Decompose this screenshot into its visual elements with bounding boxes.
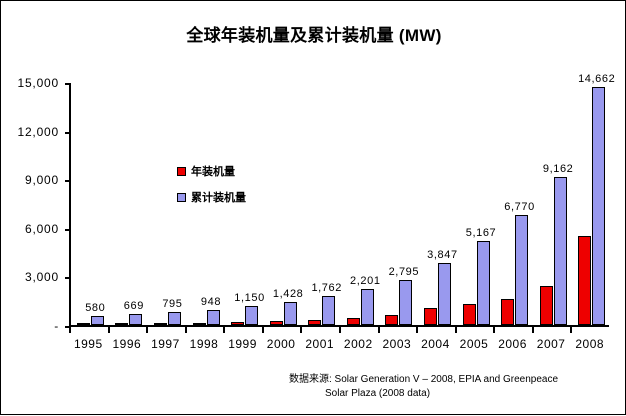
x-axis-tick	[185, 327, 187, 333]
bar-value-label: 9,162	[534, 163, 582, 175]
x-axis-tick	[300, 327, 302, 333]
bar-annual-1998[interactable]	[193, 323, 206, 325]
page-title: 全球年装机量及累计装机量 (MW)	[1, 21, 626, 46]
x-axis-tick-label: 1997	[145, 337, 185, 351]
bar-annual-2005[interactable]	[463, 304, 476, 325]
bar-cumulative-2004[interactable]	[438, 263, 451, 325]
x-axis-tick-label: 2007	[531, 337, 571, 351]
bar-annual-2008[interactable]	[578, 236, 591, 325]
bar-cumulative-2000[interactable]	[284, 302, 297, 325]
y-axis-tick-label: 15,000	[1, 76, 59, 90]
x-axis-tick	[223, 327, 225, 333]
y-axis-tick-label: 3,000	[1, 270, 59, 284]
legend-label-annual: 年装机量	[191, 163, 235, 179]
x-axis-tick	[262, 327, 264, 333]
bar-cumulative-1997[interactable]	[168, 312, 181, 325]
bar-cumulative-2006[interactable]	[515, 215, 528, 325]
bar-cumulative-1998[interactable]	[207, 310, 220, 325]
x-axis-tick	[493, 327, 495, 333]
bar-annual-2003[interactable]	[385, 315, 398, 325]
x-axis-tick-label: 2002	[338, 337, 378, 351]
x-axis-tick-label: 1998	[184, 337, 224, 351]
bar-cumulative-1996[interactable]	[129, 314, 142, 325]
bar-value-label: 2,795	[380, 266, 428, 278]
x-axis-tick-label: 2008	[570, 337, 610, 351]
x-axis-tick-label: 2004	[415, 337, 455, 351]
bar-value-label: 14,662	[573, 73, 621, 85]
y-axis-tick-label: 9,000	[1, 173, 59, 187]
chart-legend: 年装机量 累计装机量	[177, 164, 297, 216]
bar-cumulative-1995[interactable]	[91, 316, 104, 325]
bar-annual-1997[interactable]	[154, 323, 167, 325]
legend-swatch-annual-icon	[177, 167, 186, 176]
x-axis-tick-label: 1999	[223, 337, 263, 351]
x-axis-tick	[532, 327, 534, 333]
bar-annual-2006[interactable]	[501, 299, 514, 325]
y-axis-tick	[65, 83, 71, 85]
bar-cumulative-1999[interactable]	[245, 306, 258, 325]
x-axis-tick-label: 1996	[107, 337, 147, 351]
y-axis-tick	[65, 180, 71, 182]
x-axis-tick	[570, 327, 572, 333]
x-axis-tick	[378, 327, 380, 333]
bar-value-label: 3,847	[418, 249, 466, 261]
legend-item-annual[interactable]: 年装机量	[177, 164, 297, 178]
bar-annual-2007[interactable]	[540, 286, 553, 325]
source-note: 数据来源: Solar Generation V – 2008, EPIA an…	[289, 373, 558, 401]
x-axis-tick	[455, 327, 457, 333]
y-axis-tick	[65, 277, 71, 279]
bar-value-label: 6,770	[496, 201, 544, 213]
bar-cumulative-2007[interactable]	[554, 177, 567, 325]
bar-annual-2000[interactable]	[270, 321, 283, 326]
bar-cumulative-2005[interactable]	[477, 241, 490, 325]
x-axis-ticks	[69, 327, 609, 335]
x-axis-tick-label: 2006	[493, 337, 533, 351]
source-note-line-1: 数据来源: Solar Generation V – 2008, EPIA an…	[289, 373, 558, 387]
x-axis-tick	[108, 327, 110, 333]
source-note-line-2: Solar Plaza (2008 data)	[289, 387, 558, 401]
x-axis-labels: 1995199619971998199920002001200220032004…	[69, 337, 609, 357]
y-axis-tick-label: 6,000	[1, 222, 59, 236]
x-axis-tick-label: 2003	[377, 337, 417, 351]
bar-value-label: 5,167	[457, 227, 505, 239]
x-axis-tick	[146, 327, 148, 333]
chart-frame: 全球年装机量及累计装机量 (MW) -3,0006,0009,00012,000…	[0, 0, 626, 415]
legend-swatch-cumulative-icon	[177, 193, 186, 202]
x-axis-tick-label: 2000	[261, 337, 301, 351]
bar-annual-2001[interactable]	[308, 320, 321, 325]
bar-cumulative-2008[interactable]	[592, 87, 605, 325]
bar-annual-2002[interactable]	[347, 318, 360, 325]
legend-item-cumulative[interactable]: 累计装机量	[177, 190, 297, 204]
legend-label-cumulative: 累计装机量	[191, 189, 246, 205]
y-axis-tick-label: 12,000	[1, 125, 59, 139]
bar-cumulative-2003[interactable]	[399, 280, 412, 325]
x-axis-tick	[339, 327, 341, 333]
y-axis-tick	[65, 132, 71, 134]
x-axis-tick-label: 2001	[300, 337, 340, 351]
y-axis-labels: -3,0006,0009,00012,00015,000	[1, 1, 65, 416]
y-axis-tick	[65, 229, 71, 231]
x-axis-tick	[416, 327, 418, 333]
bar-cumulative-2002[interactable]	[361, 289, 374, 325]
bar-annual-1999[interactable]	[231, 322, 244, 325]
bar-annual-1996[interactable]	[115, 323, 128, 325]
bar-annual-1995[interactable]	[77, 323, 90, 325]
bar-cumulative-2001[interactable]	[322, 296, 335, 325]
x-axis-tick	[69, 327, 71, 333]
x-axis-tick-label: 2005	[454, 337, 494, 351]
bar-annual-2004[interactable]	[424, 308, 437, 325]
x-axis-tick-label: 1995	[68, 337, 108, 351]
y-axis-tick-label: -	[1, 319, 59, 333]
